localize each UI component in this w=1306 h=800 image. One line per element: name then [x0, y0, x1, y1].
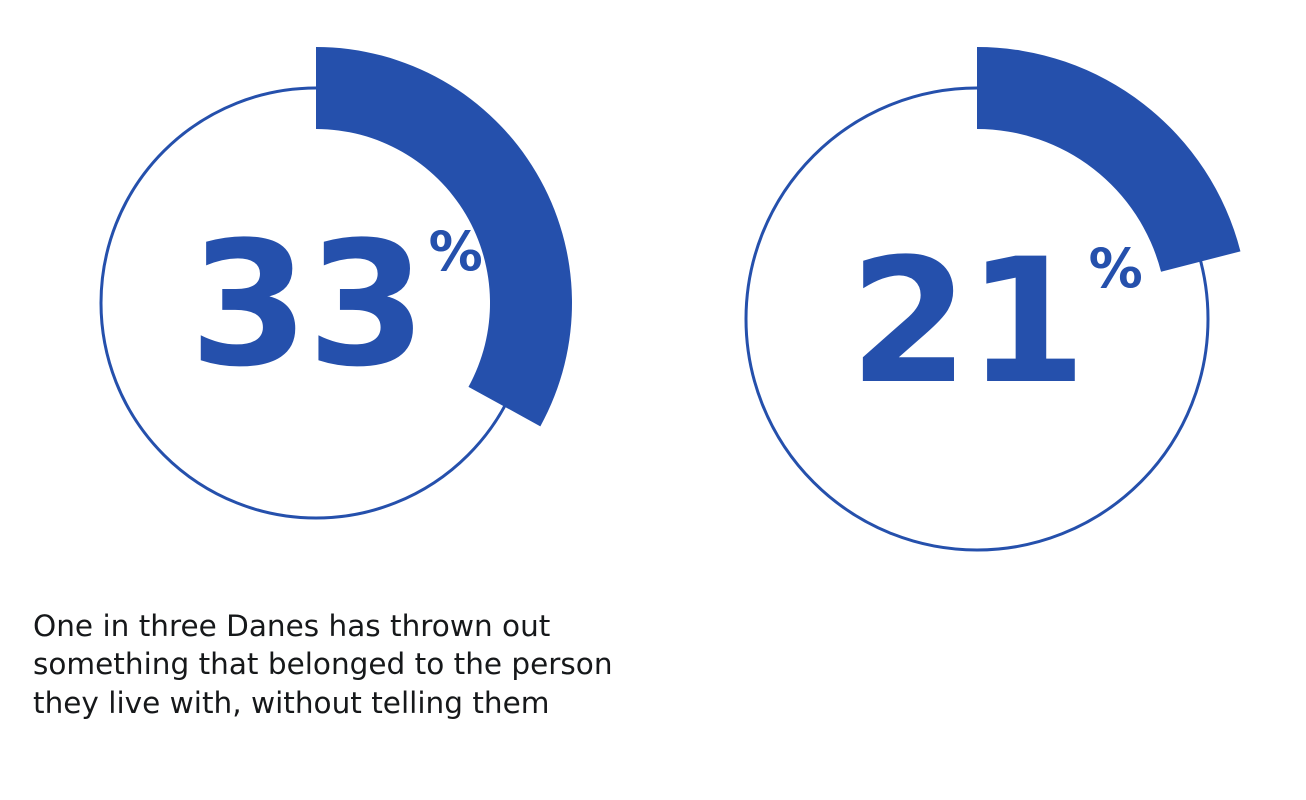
stat-caption-left: One in three Danes has thrown out someth… [33, 607, 633, 722]
infographic-root: 33 % One in three Danes has thrown out s… [0, 0, 1306, 800]
donut-value-arc-right [977, 47, 1240, 272]
donut-chart-right [0, 0, 1306, 620]
donut-svg-right [0, 0, 1306, 620]
stat-block-right: 21 % One in five Danes finds it difficul… [646, 0, 1306, 800]
